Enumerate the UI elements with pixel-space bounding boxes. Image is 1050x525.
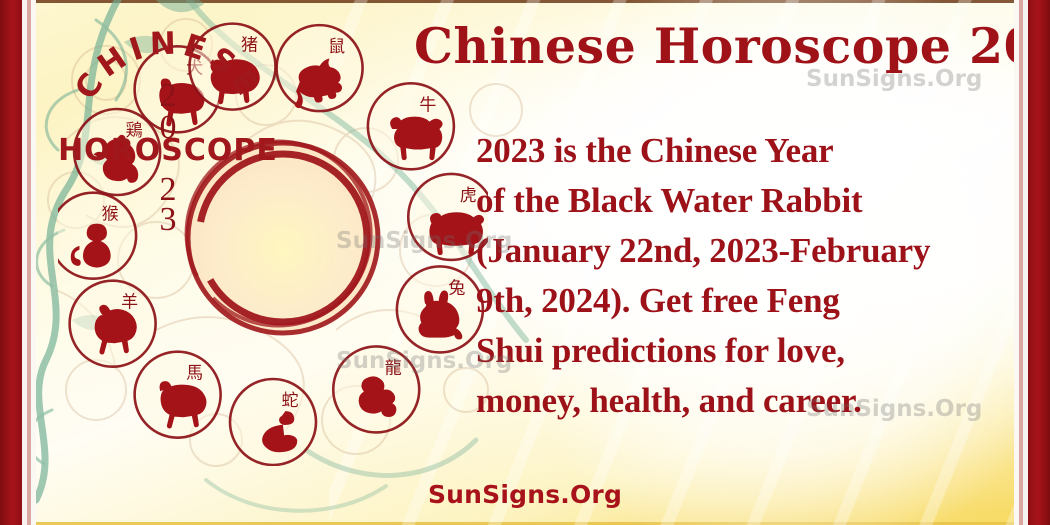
page-title: Chinese Horoscope 2023 [414,14,1014,80]
zodiac-sign-snake[interactable]: 蛇 [230,379,316,465]
zodiac-wheel: 鼠牛虎兔龍蛇馬羊猴鶏犬猪 [58,18,488,466]
body-line-5: Shui predictions for love, [476,326,1014,376]
brand-footer[interactable]: SunSigns.Org [36,480,1014,509]
frame-right-red-band [1028,0,1050,525]
zodiac-hanzi-ox: 牛 [419,95,436,115]
body-copy: 2023 is the Chinese Yearof the Black Wat… [476,126,1014,426]
zodiac-sign-dragon[interactable]: 龍 [333,346,419,432]
zodiac-sign-horse[interactable]: 馬 [135,352,221,438]
medallion-text: CHINESE HOROSCOPE 2 0 2 3 [58,18,278,240]
zodiac-hanzi-dragon: 龍 [385,358,402,378]
poster: 鼠牛虎兔龍蛇馬羊猴鶏犬猪 [0,0,1050,525]
zodiac-hanzi-rat: 鼠 [328,37,345,57]
frame-left-red-band [0,0,22,525]
zodiac-hanzi-tiger: 虎 [460,186,477,206]
body-line-6: money, health, and career. [476,376,1014,426]
body-line-2: of the Black Water Rabbit [476,176,1014,226]
zodiac-sign-goat[interactable]: 羊 [70,281,156,367]
zodiac-hanzi-goat: 羊 [121,293,138,313]
canvas-top-edge-line [36,0,1014,3]
poster-canvas: 鼠牛虎兔龍蛇馬羊猴鶏犬猪 [36,0,1014,525]
medallion-year-digit-2: 0 [160,109,177,146]
zodiac-sign-rat[interactable]: 鼠 [277,25,363,111]
zodiac-sign-rabbit[interactable]: 兔 [397,266,483,352]
zodiac-hanzi-horse: 馬 [186,364,203,384]
frame-right-pink-band [1019,0,1023,525]
frame-right-white-band-2 [1014,0,1019,525]
body-line-4: 9th, 2024). Get free Feng [476,276,1014,326]
body-line-1: 2023 is the Chinese Year [476,126,1014,176]
zodiac-disc-ring [230,379,316,465]
frame-right-white-band [1023,0,1028,525]
medallion-year-digit-4: 3 [160,201,177,238]
zodiac-hanzi-snake: 蛇 [282,391,299,411]
zodiac-hanzi-rabbit: 兔 [448,278,465,298]
body-line-3: (January 22nd, 2023-February [476,226,1014,276]
